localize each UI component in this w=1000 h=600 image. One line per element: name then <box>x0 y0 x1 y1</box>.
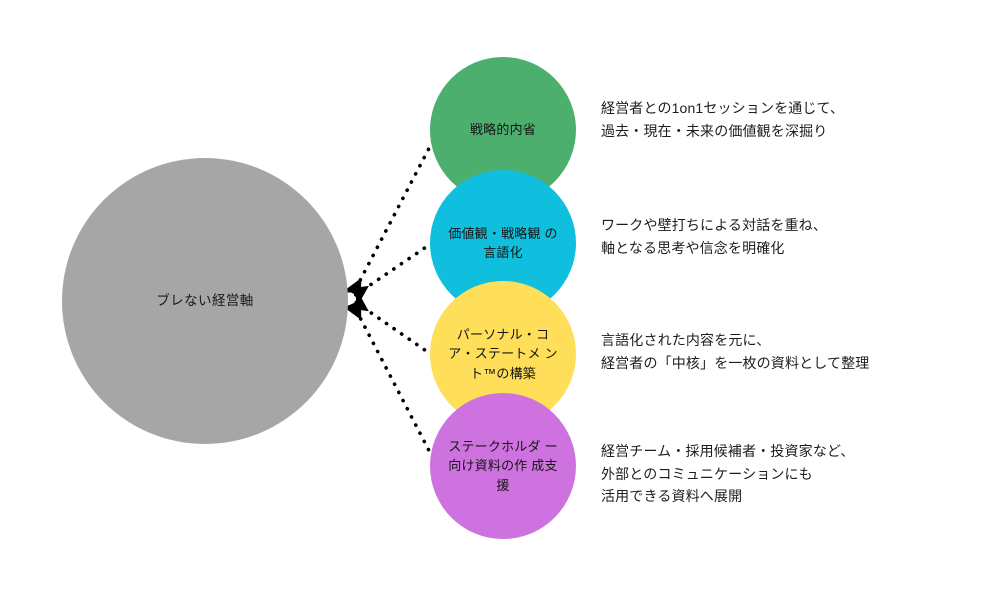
stage-description-2: ワークや壁打ちによる対話を重ね、 軸となる思考や信念を明確化 <box>601 214 827 259</box>
stage-description-3: 言語化された内容を元に、 経営者の「中核」を一枚の資料として整理 <box>601 329 869 374</box>
stage-label: ステークホルダ ー向け資料の作 成支援 <box>447 437 559 496</box>
diagram-canvas: ブレない経営軸 戦略的内省 価値観・戦略観 の言語化 パーソナル・コ ア・ステー… <box>0 0 1000 600</box>
stage-label: 戦略的内省 <box>447 120 559 140</box>
connector-line-2 <box>354 243 432 296</box>
stage-circle-stakeholder-materials[interactable]: ステークホルダ ー向け資料の作 成支援 <box>430 393 576 539</box>
hub-label: ブレない経営軸 <box>156 292 253 310</box>
stage-description-1: 経営者との1on1セッションを通じて、 過去・現在・未来の価値観を深掘り <box>601 97 844 142</box>
hub-circle[interactable]: ブレない経営軸 <box>62 158 348 444</box>
connector-line-1 <box>353 133 437 294</box>
stage-label: パーソナル・コ ア・ステートメ ント™の構築 <box>447 325 559 384</box>
stage-description-4: 経営チーム・採用候補者・投資家など、 外部とのコミュニケーションにも 活用できる… <box>601 440 855 508</box>
connector-line-4 <box>353 304 437 466</box>
stage-label: 価値観・戦略観 の言語化 <box>447 224 559 263</box>
connector-line-3 <box>354 301 432 355</box>
